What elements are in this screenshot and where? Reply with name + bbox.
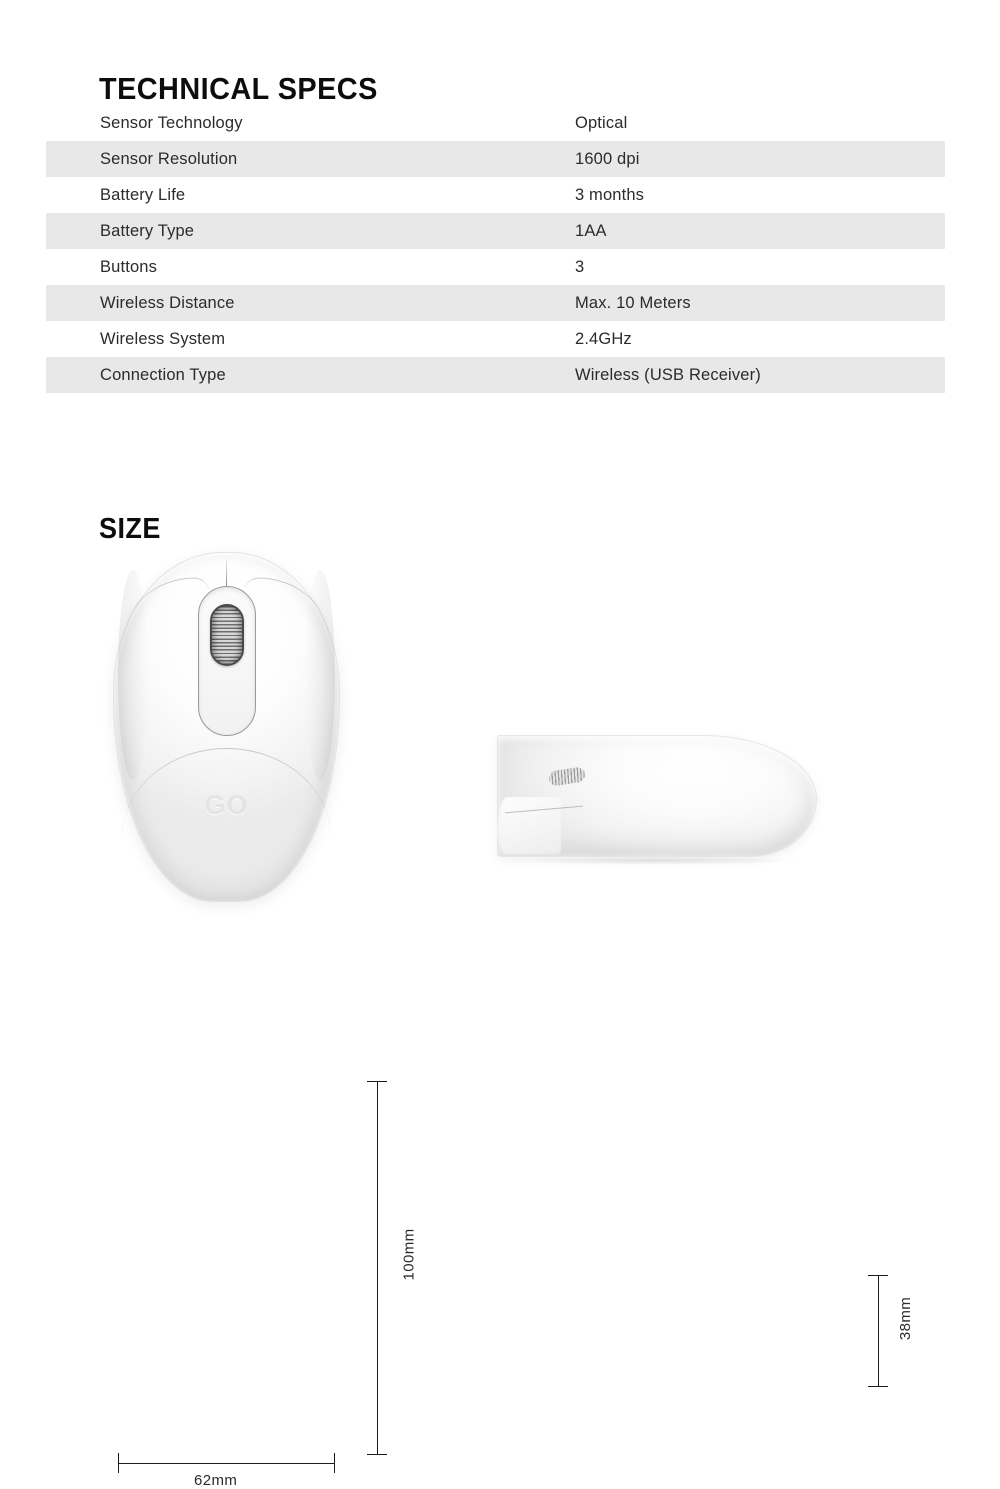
table-row: Connection Type Wireless (USB Receiver) — [46, 357, 945, 393]
table-row: Buttons 3 — [46, 249, 945, 285]
dimension-line — [878, 1275, 879, 1387]
table-row: Battery Type 1AA — [46, 213, 945, 249]
table-row: Sensor Technology Optical — [46, 105, 945, 141]
dimension-tick-bottom — [868, 1386, 888, 1387]
spec-label: Buttons — [100, 258, 157, 277]
spec-label: Sensor Technology — [100, 114, 243, 133]
page-title: TECHNICAL SPECS — [99, 71, 378, 107]
scroll-wheel-icon — [210, 604, 244, 666]
dimension-tick-right — [334, 1453, 335, 1473]
spec-label: Sensor Resolution — [100, 150, 237, 169]
spec-value: Max. 10 Meters — [575, 294, 691, 313]
size-figure: GO 100mm 62mm 38mm — [0, 530, 1000, 980]
spec-value: 3 months — [575, 186, 644, 205]
spec-label: Wireless Distance — [100, 294, 235, 313]
dimension-tick-top — [367, 1081, 387, 1082]
dimension-tick-top — [868, 1275, 888, 1276]
mouse-side-front-nose — [497, 797, 561, 855]
mouse-side-view-image — [497, 735, 817, 865]
spec-value: Wireless (USB Receiver) — [575, 366, 761, 385]
dimension-label-thickness: 38mm — [897, 1297, 914, 1340]
dimension-label-width: 62mm — [194, 1472, 237, 1489]
spec-value: 1600 dpi — [575, 150, 640, 169]
dimension-line — [377, 1081, 378, 1455]
spec-label: Connection Type — [100, 366, 226, 385]
spec-label: Battery Life — [100, 186, 185, 205]
spec-value: Optical — [575, 114, 627, 133]
mouse-center-seam — [226, 556, 227, 588]
mouse-side-ground-shadow — [509, 856, 799, 865]
table-row: Battery Life 3 months — [46, 177, 945, 213]
table-row: Sensor Resolution 1600 dpi — [46, 141, 945, 177]
specs-table: Sensor Technology Optical Sensor Resolut… — [46, 105, 945, 393]
dimension-line — [118, 1463, 335, 1464]
spec-value: 2.4GHz — [575, 330, 632, 349]
spec-value: 1AA — [575, 222, 607, 241]
dimension-tick-left — [118, 1453, 119, 1473]
dimension-label-height: 100mm — [401, 1228, 418, 1280]
table-row: Wireless System 2.4GHz — [46, 321, 945, 357]
mouse-top-view-image: GO — [113, 552, 340, 902]
spec-label: Battery Type — [100, 222, 194, 241]
spec-label: Wireless System — [100, 330, 225, 349]
table-row: Wireless Distance Max. 10 Meters — [46, 285, 945, 321]
brand-logo: GO — [113, 790, 340, 821]
spec-value: 3 — [575, 258, 584, 277]
dimension-tick-bottom — [367, 1454, 387, 1455]
